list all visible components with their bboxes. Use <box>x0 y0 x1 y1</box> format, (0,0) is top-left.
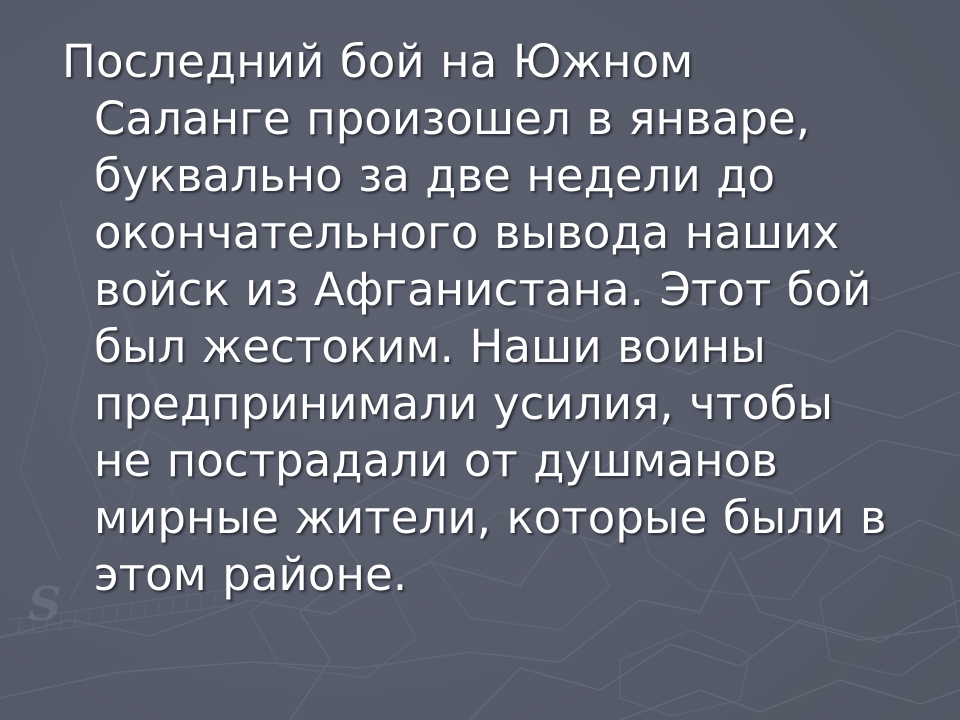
presentation-slide: S Последний бой на Южном Саланге произош… <box>0 0 960 720</box>
slide-body-text: Последний бой на Южном Саланге произошел… <box>0 0 960 603</box>
body-paragraph: Последний бой на Южном Саланге произошел… <box>0 0 960 603</box>
